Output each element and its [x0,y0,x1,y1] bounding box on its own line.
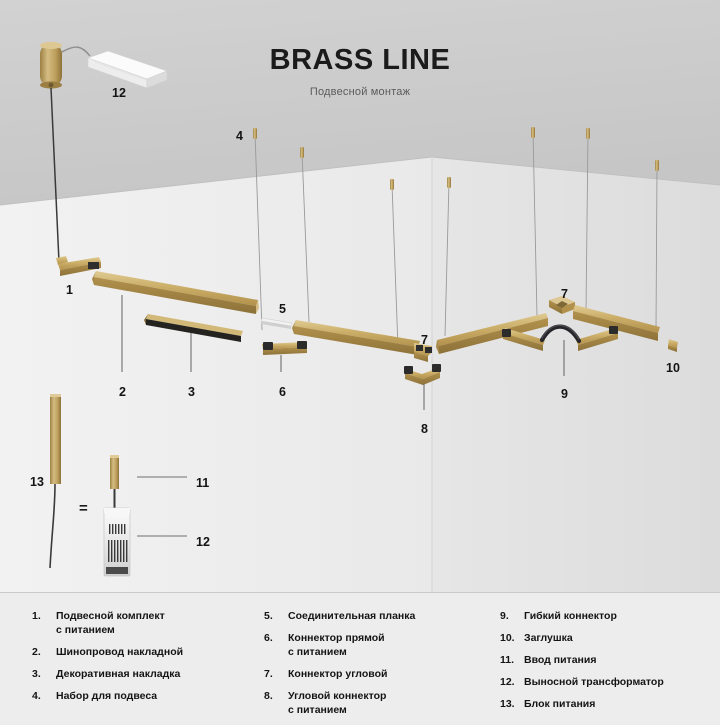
legend-item: 2.Шинопровод накладной [32,645,250,659]
legend-item-label-line1: Шинопровод накладной [56,646,183,658]
legend-item-index: 1. [32,609,56,637]
legend-item: 8.Угловой коннекторс питанием [264,689,490,717]
legend-item: 6.Коннектор прямойс питанием [264,631,490,659]
callout-number-1: 1 [66,284,73,297]
cable-ferrule [300,147,304,158]
legend-item-label-line2: с питанием [56,623,165,637]
legend-item-index: 11. [500,653,524,667]
connector6-power-end-left [263,342,273,350]
legend-item-label: Угловой коннекторс питанием [288,689,386,717]
cable-ferrule [390,179,394,190]
cable-ferrule [447,177,451,188]
legend-item-label: Соединительная планка [288,609,415,623]
legend-item-label-line1: Набор для подвеса [56,690,157,702]
legend-item-label: Гибкий коннектор [524,609,617,623]
legend-item: 9.Гибкий коннектор [500,609,720,623]
legend-item-label-line1: Соединительная планка [288,610,415,622]
legend-item-label: Шинопровод накладной [56,645,183,659]
flex-stub-right-contact [609,326,618,334]
callout-number-11: 11 [196,477,209,490]
corner8-power-end-right [432,364,441,372]
legend-item: 5.Соединительная планка [264,609,490,623]
legend-item-index: 12. [500,675,524,689]
page-title: BRASS LINE [0,46,720,75]
legend-item-label-line1: Подвесной комплект [56,610,165,622]
diagram-scene: BRASS LINE Подвесной монтаж 123456778910… [0,0,720,592]
cable-ferrule [253,128,257,139]
legend-item-label: Подвесной комплектс питанием [56,609,165,637]
callout-number-2: 2 [119,386,126,399]
legend-column-3: 9.Гибкий коннектор10.Заглушка11.Ввод пит… [490,609,720,725]
legend-item-label-line1: Заглушка [524,632,573,644]
legend-item-index: 6. [264,631,288,659]
power-input-top [110,455,119,458]
connector6-power-end-right [297,341,307,349]
legend-columns: 1.Подвесной комплектс питанием2.Шинопров… [0,593,720,725]
part-12-remote-transformer-bottom [104,508,130,576]
callout-number-8: 8 [421,423,428,436]
legend-item: 10.Заглушка [500,631,720,645]
legend-item-label-line1: Гибкий коннектор [524,610,617,622]
callout-number-6: 6 [279,386,286,399]
driver-top-plate [104,508,130,513]
legend-item-index: 13. [500,697,524,711]
header-block: BRASS LINE Подвесной монтаж [0,46,720,98]
legend-item-label: Коннектор угловой [288,667,387,681]
legend-item-index: 5. [264,609,288,623]
flex-stub-left-contact [502,329,511,337]
callout-number-9: 9 [561,388,568,401]
legend-item: 11.Ввод питания [500,653,720,667]
legend-column-2: 5.Соединительная планка6.Коннектор прямо… [250,609,490,725]
legend-column-1: 1.Подвесной комплектс питанием2.Шинопров… [0,609,250,725]
legend-item: 12.Выносной трансформатор [500,675,720,689]
legend-item: 13.Блок питания [500,697,720,711]
legend-item-index: 7. [264,667,288,681]
part-6-straight-connector-power [262,341,307,355]
legend-item-label-line1: Коннектор прямой [288,632,385,644]
kit-power-block [88,262,99,269]
callout-number-12a: 12 [112,87,126,100]
legend-item-label-line1: Коннектор угловой [288,668,387,680]
legend-item-index: 10. [500,631,524,645]
legend-item-index: 3. [32,667,56,681]
callout-number-5: 5 [279,303,286,316]
legend-item-label: Ввод питания [524,653,596,667]
power-input-body [110,455,119,489]
callout-number-7b: 7 [561,288,568,301]
legend-item-label-line2: с питанием [288,703,386,717]
cable-ferrule [531,127,535,138]
legend-item-label-line1: Угловой коннектор [288,690,386,702]
legend-item-index: 4. [32,689,56,703]
legend-item-label-line1: Ввод питания [524,654,596,666]
legend-item-label-line1: Блок питания [524,698,595,710]
page-subtitle: Подвесной монтаж [0,86,720,98]
callout-number-7a: 7 [421,334,428,347]
legend-item-label: Блок питания [524,697,595,711]
legend-panel: 1.Подвесной комплектс питанием2.Шинопров… [0,592,720,720]
legend-item-index: 2. [32,645,56,659]
legend-item: 7.Коннектор угловой [264,667,490,681]
legend-item-label-line1: Выносной трансформатор [524,676,664,688]
legend-item-label-line2: с питанием [288,645,385,659]
legend-item-label: Выносной трансформатор [524,675,664,689]
driver-terminal-block [106,567,128,574]
callout-number-13: 13 [30,476,44,489]
legend-item-label: Коннектор прямойс питанием [288,631,385,659]
legend-item-label: Декоративная накладка [56,667,180,681]
legend-item-label: Заглушка [524,631,573,645]
wall-left-plane [0,157,432,592]
psu-top-cap [50,394,61,397]
legend-item: 3.Декоративная накладка [32,667,250,681]
callout-number-12b: 12 [196,536,210,549]
callout-number-3: 3 [188,386,195,399]
legend-item-index: 8. [264,689,288,717]
corner8-power-end-left [404,366,413,374]
callout-number-10: 10 [666,362,680,375]
callout-number-4: 4 [236,130,243,143]
legend-item: 1.Подвесной комплектс питанием [32,609,250,637]
legend-item-index: 9. [500,609,524,623]
cable-ferrule [586,128,590,139]
poster-root: BRASS LINE Подвесной монтаж 123456778910… [0,0,720,720]
legend-item-label-line1: Декоративная накладка [56,668,180,680]
psu-body [50,394,61,484]
legend-item-label: Набор для подвеса [56,689,157,703]
legend-item: 4.Набор для подвеса [32,689,250,703]
equals-sign: = [79,500,88,517]
corner7l-contact [425,347,432,353]
cable-ferrule [655,160,659,171]
